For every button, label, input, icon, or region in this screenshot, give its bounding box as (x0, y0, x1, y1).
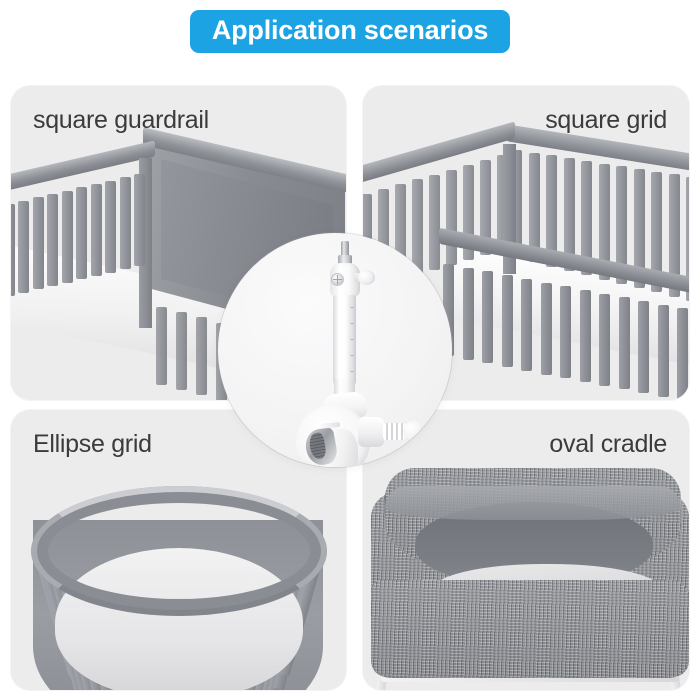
crib-slat-near (76, 187, 87, 279)
crib-slat-near (120, 177, 131, 269)
crib-slat-near (134, 174, 145, 266)
pole-mark (350, 339, 354, 340)
crib-slat-far (176, 312, 187, 390)
cradle-front-wall (371, 580, 689, 678)
crib-slat-front (541, 283, 552, 375)
crib-slat-front (638, 301, 649, 393)
crib-slat-front (580, 290, 591, 382)
crib-slat-near (91, 184, 102, 276)
crib-slat-front (482, 271, 493, 363)
thumb-screw-knob (403, 421, 424, 442)
crib-slat-near (105, 181, 116, 273)
panel-label-square-guardrail: square guardrail (33, 106, 209, 135)
crib-slat-far (196, 317, 207, 395)
crib-slat-front (619, 297, 630, 389)
product-mount-illustration (218, 233, 452, 467)
crib-slat-front (599, 294, 610, 386)
panel-label-square-grid: square grid (545, 106, 667, 135)
pole-mark (350, 307, 354, 308)
pole-mark (350, 323, 354, 324)
thumb-screw-thread (383, 423, 405, 440)
panel-label-oval-cradle: oval cradle (549, 430, 667, 459)
crib-slat-front (658, 305, 669, 397)
crib-slat-near (47, 194, 58, 286)
crib-slat-far (156, 307, 167, 385)
crib-illustration (25, 470, 335, 690)
head-ball-knob (358, 270, 375, 285)
crib-slat-near (33, 197, 44, 289)
crib-slat-front (521, 279, 532, 371)
header-bar: Application scenarios (0, 0, 700, 62)
page-title: Application scenarios (212, 15, 488, 45)
crib-oval-rim-highlight (31, 486, 327, 616)
crib-slat-front (502, 275, 513, 367)
cradle-illustration (371, 468, 689, 690)
title-badge: Application scenarios (190, 10, 510, 53)
crib-slat-front (463, 268, 474, 360)
product-inset-circle[interactable] (218, 233, 452, 467)
pivot-screw-slot-v (337, 275, 338, 284)
cradle-top-rim (385, 486, 681, 520)
pole-mark (350, 355, 354, 356)
pole-mark (350, 371, 354, 372)
crib-slat-near (18, 201, 29, 293)
crib-slat-near (11, 204, 15, 296)
thumb-screw-base (358, 417, 384, 447)
crib-slat-near (62, 191, 73, 283)
crib-slat-front (677, 308, 688, 400)
panel-label-ellipse-grid: Ellipse grid (33, 430, 152, 459)
crib-slat-front (560, 286, 571, 378)
